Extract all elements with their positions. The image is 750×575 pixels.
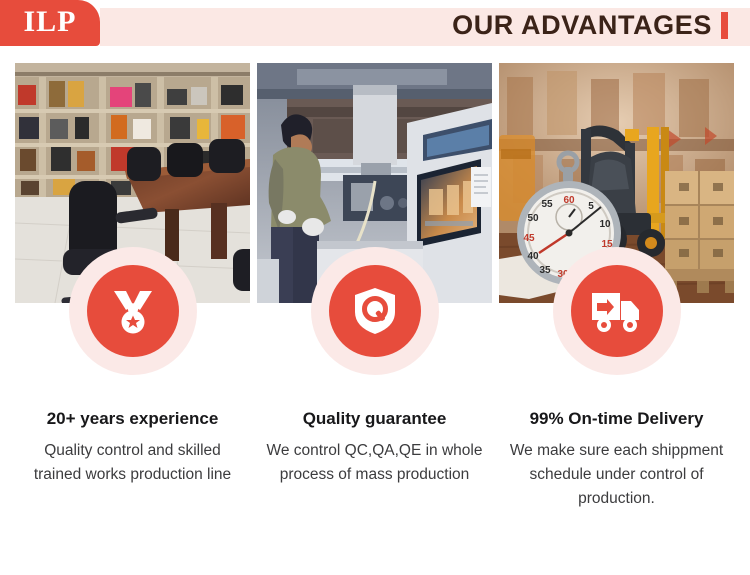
- brand-logo-text: ILP: [23, 7, 76, 39]
- badge-circle[interactable]: [87, 265, 179, 357]
- card-description: We make sure each shippment schedule und…: [503, 439, 730, 511]
- svg-text:5: 5: [588, 201, 594, 212]
- svg-text:45: 45: [523, 233, 535, 244]
- badge-halo: [311, 247, 439, 375]
- svg-text:10: 10: [599, 219, 611, 230]
- badge-halo: [553, 247, 681, 375]
- medal-icon: [108, 286, 158, 336]
- advantage-card: 60 5 10 15 20 25 30 35 40 45 50 55: [499, 63, 734, 511]
- card-title: Quality guarantee: [261, 409, 488, 429]
- card-title: 99% On-time Delivery: [503, 409, 730, 429]
- delivery-truck-icon: [591, 289, 643, 333]
- advantages-card-row: 20+ years experience Quality control and…: [0, 63, 750, 511]
- badge-circle[interactable]: [571, 265, 663, 357]
- badge-circle[interactable]: [329, 265, 421, 357]
- card-description: We control QC,QA,QE in whole process of …: [261, 439, 488, 487]
- svg-text:35: 35: [539, 265, 551, 276]
- advantage-card: 20+ years experience Quality control and…: [15, 63, 250, 511]
- card-title: 20+ years experience: [19, 409, 246, 429]
- badge-halo: [69, 247, 197, 375]
- title-accent-bar: [721, 12, 728, 39]
- page-title: OUR ADVANTAGES: [452, 12, 712, 39]
- advantage-card: Quality guarantee We control QC,QA,QE in…: [257, 63, 492, 511]
- page-header: ILP OUR ADVANTAGES: [0, 0, 750, 46]
- card-text-block: 99% On-time Delivery We make sure each s…: [499, 409, 734, 511]
- svg-text:40: 40: [527, 251, 539, 262]
- brand-logo[interactable]: ILP: [0, 0, 100, 46]
- svg-text:50: 50: [527, 213, 539, 224]
- card-text-block: 20+ years experience Quality control and…: [15, 409, 250, 487]
- svg-text:55: 55: [541, 199, 553, 210]
- shield-quality-icon: [351, 286, 399, 336]
- card-description: Quality control and skilled trained work…: [19, 439, 246, 487]
- card-text-block: Quality guarantee We control QC,QA,QE in…: [257, 409, 492, 487]
